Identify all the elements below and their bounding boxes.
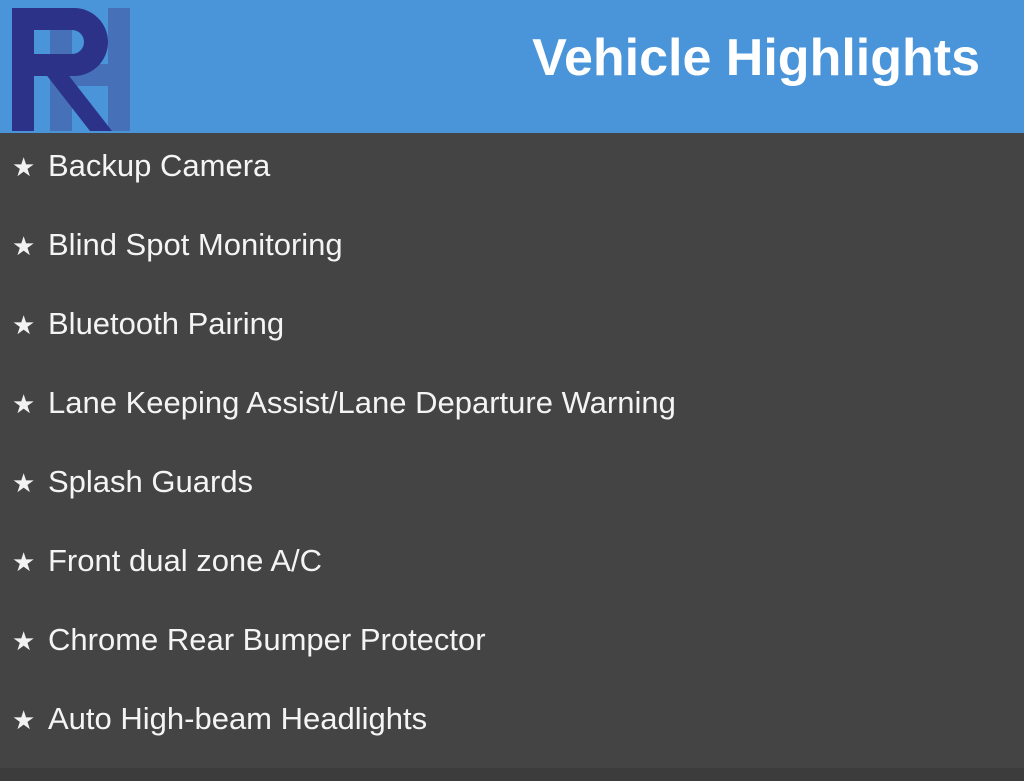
star-bullet-icon: ★: [12, 703, 48, 737]
star-bullet-icon: ★: [12, 624, 48, 658]
star-bullet-icon: ★: [12, 229, 48, 263]
list-item: ★ Front dual zone A/C: [0, 544, 1024, 623]
star-bullet-icon: ★: [12, 466, 48, 500]
star-bullet-icon: ★: [12, 387, 48, 421]
list-item: ★ Bluetooth Pairing: [0, 307, 1024, 386]
feature-label: Front dual zone A/C: [48, 544, 322, 578]
feature-label: Lane Keeping Assist/Lane Departure Warni…: [48, 386, 676, 420]
vehicle-highlights-slide: Vehicle Highlights ★ Backup Camera ★ Bli…: [0, 0, 1024, 768]
star-bullet-icon: ★: [12, 545, 48, 579]
feature-label: Auto High-beam Headlights: [48, 702, 427, 736]
feature-label: Chrome Rear Bumper Protector: [48, 623, 486, 657]
rh-monogram-logo: [8, 6, 140, 133]
slide-header-band: Vehicle Highlights: [0, 0, 1024, 133]
feature-label: Blind Spot Monitoring: [48, 228, 343, 262]
list-item: ★ Auto High-beam Headlights: [0, 702, 1024, 781]
star-bullet-icon: ★: [12, 150, 48, 184]
list-item: ★ Chrome Rear Bumper Protector: [0, 623, 1024, 702]
page-title: Vehicle Highlights: [532, 27, 980, 89]
feature-label: Splash Guards: [48, 465, 253, 499]
list-item: ★ Splash Guards: [0, 465, 1024, 544]
feature-label: Bluetooth Pairing: [48, 307, 284, 341]
list-item: ★ Lane Keeping Assist/Lane Departure War…: [0, 386, 1024, 465]
star-bullet-icon: ★: [12, 308, 48, 342]
list-item: ★ Blind Spot Monitoring: [0, 228, 1024, 307]
feature-label: Backup Camera: [48, 149, 270, 183]
vehicle-features-list: ★ Backup Camera ★ Blind Spot Monitoring …: [0, 133, 1024, 768]
list-item: ★ Backup Camera: [0, 149, 1024, 228]
